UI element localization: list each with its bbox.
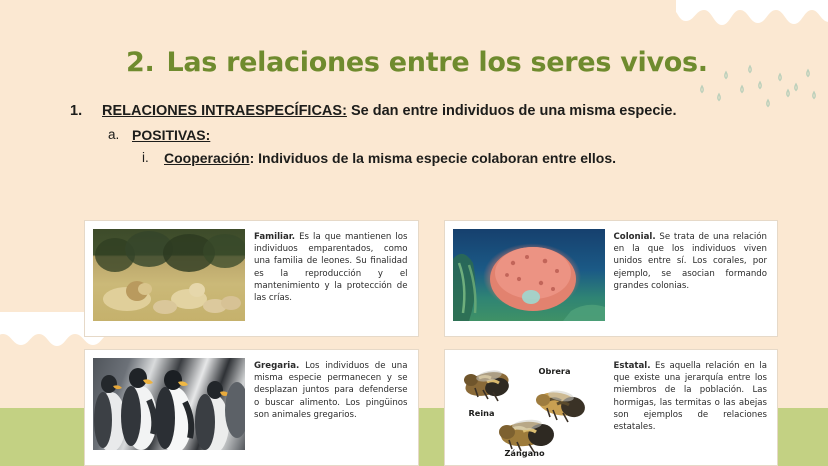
card-text-estatal: Estatal. Es aquella relación en la que e… [614, 358, 768, 457]
outline-heading-3: Cooperación [164, 150, 250, 166]
outline-item-3: i. Cooperación: Individuos de la misma e… [70, 149, 800, 169]
card-text-gregaria: Gregaria. Los individuos de una misma es… [254, 358, 408, 457]
card-colonial: Colonial. Se trata de una relación en la… [444, 220, 779, 337]
outline-body-1: RELACIONES INTRAESPECÍFICAS: Se dan entr… [102, 102, 800, 122]
cloud-icon-top-right [676, 0, 828, 36]
penguins-photo [93, 358, 245, 450]
worker-bee-illustration [536, 389, 587, 422]
card-term-gregaria: Gregaria. [254, 361, 299, 371]
lions-photo [93, 229, 245, 321]
card-text-colonial: Colonial. Se trata de una relación en la… [614, 229, 768, 328]
page-title: 2.Las relaciones entre los seres vivos. [126, 47, 708, 78]
outline-body-2: POSITIVAS: [132, 126, 800, 146]
outline-text-3: : Individuos de la misma especie colabor… [250, 150, 616, 166]
card-familiar: Familiar. Es la que mantienen los indivi… [84, 220, 419, 337]
outline-marker-3: i. [142, 149, 164, 169]
outline-marker-1: 1. [70, 102, 102, 122]
card-figure-estatal: Reina Obrera Zángano [453, 358, 605, 457]
outline-body-3: Cooperación: Individuos de la misma espe… [164, 149, 800, 169]
card-term-estatal: Estatal. [614, 361, 651, 371]
card-term-familiar: Familiar. [254, 232, 295, 242]
bees-diagram: Reina Obrera Zángano [453, 358, 605, 458]
coral-photo [453, 229, 605, 321]
card-body-estatal: Es aquella relación en la que existe una… [614, 361, 768, 432]
bee-label-drone: Zángano [505, 448, 545, 458]
slide-canvas: 2.Las relaciones entre los seres vivos. … [0, 0, 828, 466]
outline-item-1: 1. RELACIONES INTRAESPECÍFICAS: Se dan e… [70, 102, 800, 122]
card-body-familiar: Es la que mantienen los individuos empar… [254, 232, 408, 303]
card-text-familiar: Familiar. Es la que mantienen los indivi… [254, 229, 408, 328]
page-title-number: 2. [126, 47, 154, 78]
card-estatal: Reina Obrera Zángano Estatal. Es aquella… [444, 349, 779, 466]
card-figure-familiar [93, 229, 245, 328]
outline-list: 1. RELACIONES INTRAESPECÍFICAS: Se dan e… [70, 102, 800, 169]
queen-bee-illustration [462, 368, 510, 401]
outline-item-2: a. POSITIVAS: [70, 126, 800, 146]
outline-heading-2: POSITIVAS: [132, 127, 210, 143]
card-gregaria: Gregaria. Los individuos de una misma es… [84, 349, 419, 466]
outline-heading-1: RELACIONES INTRAESPECÍFICAS: [102, 103, 347, 119]
bee-label-queen: Reina [469, 408, 495, 418]
card-term-colonial: Colonial. [614, 232, 656, 242]
page-title-text: Las relaciones entre los seres vivos. [166, 47, 707, 78]
card-figure-colonial [453, 229, 605, 328]
bee-label-worker: Obrera [539, 366, 571, 376]
outline-text-1: Se dan entre individuos de una misma esp… [347, 103, 677, 119]
card-grid: Familiar. Es la que mantienen los indivi… [84, 220, 778, 466]
card-figure-gregaria [93, 358, 245, 457]
outline-marker-2: a. [108, 126, 132, 146]
drone-bee-illustration [499, 418, 555, 452]
